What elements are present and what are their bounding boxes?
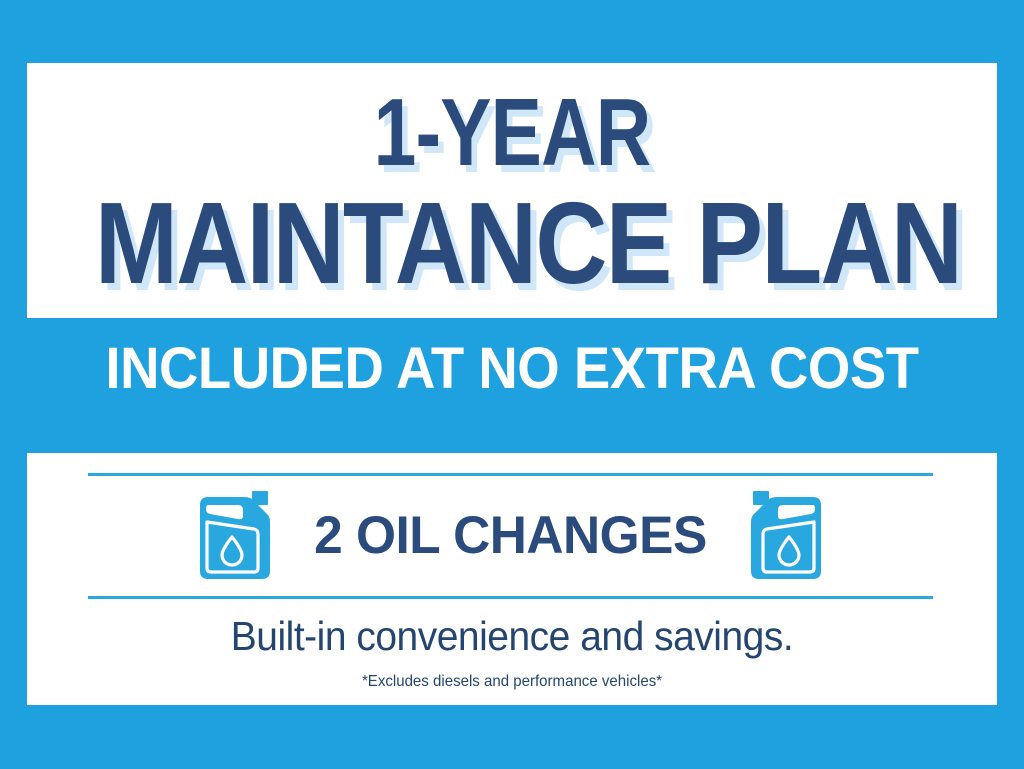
oil-jug-icon-right <box>749 489 825 581</box>
divider-rule-top <box>88 473 933 476</box>
divider-rule-bottom <box>88 596 933 599</box>
headline-line-1: 1-YEAR <box>124 85 900 181</box>
benefit-label: 2 OIL CHANGES <box>314 509 707 562</box>
headline-line-2: MAINTANCE PLAN <box>95 185 929 301</box>
headline-panel: 1-YEAR MAINTANCE PLAN <box>27 63 997 318</box>
subhead-text: INCLUDED AT NO EXTRA COST <box>56 340 968 398</box>
benefit-row: 2 OIL CHANGES <box>88 485 933 585</box>
fineprint-text: *Excludes diesels and performance vehicl… <box>56 674 968 690</box>
maintenance-plan-poster: 1-YEAR MAINTANCE PLAN INCLUDED AT NO EXT… <box>0 0 1024 769</box>
tagline-text: Built-in convenience and savings. <box>51 616 973 657</box>
oil-jug-icon-left <box>196 489 272 581</box>
benefits-panel: 2 OIL CHANGES Built-in convenience and s… <box>27 453 997 705</box>
